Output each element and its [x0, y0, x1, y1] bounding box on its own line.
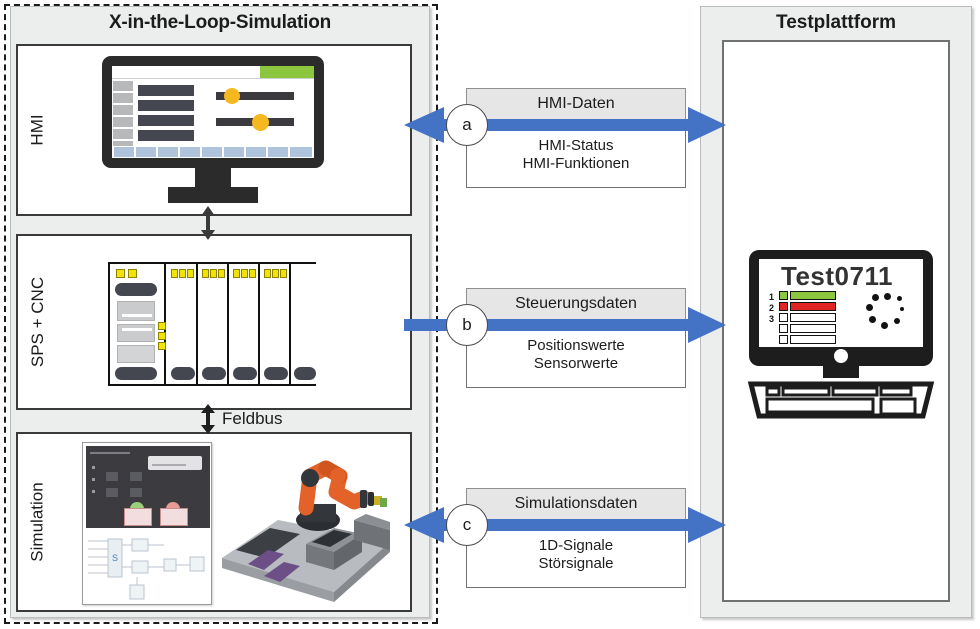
spinner-dot: [897, 296, 902, 301]
test-computer-icon: Test0711 1 2 3: [745, 250, 937, 420]
test-row-number-3: 3: [769, 314, 774, 324]
simulation-screenshot: S: [82, 442, 212, 605]
test-screen-title: Test0711: [781, 261, 893, 292]
xil-panel-title: X-in-the-Loop-Simulation: [10, 6, 430, 40]
section-hmi-label: HMI: [18, 46, 58, 214]
test-row-checkbox-4: [779, 324, 788, 333]
hmi-monitor-icon: [102, 56, 332, 206]
test-screen: Test0711 1 2 3: [759, 259, 923, 347]
flow-c-line-2: Störsignale: [538, 555, 613, 572]
spinner-dot: [881, 322, 888, 329]
spinner-dot: [869, 316, 876, 323]
test-row-number-1: 1: [769, 292, 774, 302]
spinner-dot: [884, 293, 891, 300]
connector-feldbus: [196, 404, 220, 434]
test-row-bar-2: [790, 302, 836, 311]
test-row-checkbox-1: [779, 291, 788, 300]
test-row-checkbox-3: [779, 313, 788, 322]
section-hmi: HMI: [16, 44, 412, 216]
spinner-dot: [866, 304, 873, 311]
section-simulation: Simulation: [16, 432, 412, 612]
section-simulation-label: Simulation: [18, 434, 58, 610]
feldbus-label: Feldbus: [222, 409, 282, 429]
flow-a-badge: a: [446, 104, 488, 146]
robot-cell-render: [214, 446, 396, 604]
section-sps-cnc-label: SPS + CNC: [18, 236, 58, 408]
flow-b-line-2: Sensorwerte: [534, 355, 618, 372]
test-row-bar-5: [790, 335, 836, 344]
test-row-bar-1: [790, 291, 836, 300]
testplatform-title: Testplattform: [700, 6, 972, 40]
flow-b-badge: b: [446, 304, 488, 346]
test-row-bar-3: [790, 313, 836, 322]
test-row-checkbox-2: [779, 302, 788, 311]
flow-c-badge: c: [446, 504, 488, 546]
spinner-dot: [900, 307, 904, 311]
spinner-dot: [872, 294, 879, 301]
diagram-canvas: X-in-the-Loop-Simulation HMI: [0, 0, 980, 629]
test-row-checkbox-5: [779, 335, 788, 344]
section-sps-cnc: SPS + CNC: [16, 234, 412, 410]
plc-rack-icon: [108, 262, 316, 386]
test-row-number-2: 2: [769, 303, 774, 313]
flow-a-line-2: HMI-Funktionen: [523, 155, 630, 172]
connector-hmi-plc: [196, 206, 220, 240]
spinner-dot: [894, 318, 900, 324]
svg-text:S: S: [112, 553, 118, 563]
test-row-bar-4: [790, 324, 836, 333]
